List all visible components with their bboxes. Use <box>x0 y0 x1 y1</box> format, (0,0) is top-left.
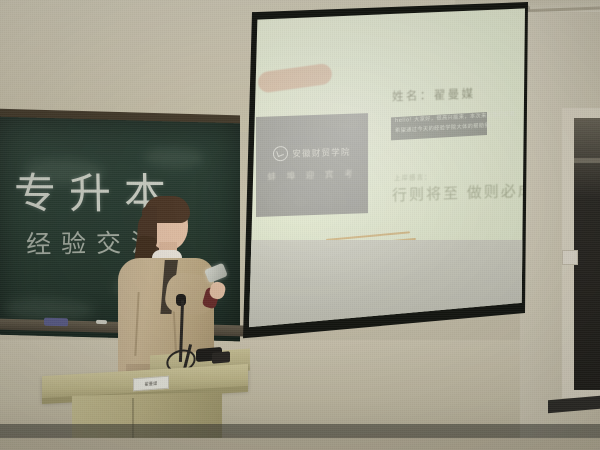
wall-notice <box>562 250 578 265</box>
wall-baseboard <box>0 424 600 438</box>
classroom-photo-scene: 专升本 经验交流 安徽财贸学院 蚌 埠 迎 宾 考 姓名：翟曼媒 hello! … <box>0 0 600 450</box>
slide-quote-main: 行则将至 做则必成 <box>392 179 528 205</box>
projection-screen: 安徽财贸学院 蚌 埠 迎 宾 考 姓名：翟曼媒 hello! 大家好，很高兴能来… <box>228 2 528 340</box>
name-card-text: 翟曼媒 <box>145 380 158 387</box>
slide-brushstroke-shape <box>257 63 333 94</box>
presentation-slide: 安徽财贸学院 蚌 埠 迎 宾 考 姓名：翟曼媒 hello! 大家好，很高兴能来… <box>228 2 528 260</box>
institution-name: 安徽财贸学院 <box>292 145 350 159</box>
doorway-shelf <box>574 158 600 163</box>
screen-surface: 安徽财贸学院 蚌 埠 迎 宾 考 姓名：翟曼媒 hello! 大家好，很高兴能来… <box>228 2 528 340</box>
chalk-eraser <box>44 318 68 327</box>
institution-emblem-icon <box>273 146 288 162</box>
classroom-floor <box>0 438 600 450</box>
slide-name-line: 姓名：翟曼媒 <box>392 85 475 104</box>
slide-intro-box: hello! 大家好，很高兴能来，本次来和我们交流， 希望通过今天的经验学院大体… <box>391 112 487 140</box>
slide-logo-panel: 安徽财贸学院 蚌 埠 迎 宾 考 <box>256 113 368 217</box>
cable-connector-secondary <box>212 351 230 364</box>
podium-name-card: 翟曼媒 <box>133 376 169 392</box>
institution-subtitle: 蚌 埠 迎 宾 考 <box>256 167 368 183</box>
logo-row: 安徽财贸学院 <box>256 143 368 162</box>
chalk-stick <box>96 320 107 324</box>
slide-quote-label: 上岸感言： <box>394 171 432 182</box>
